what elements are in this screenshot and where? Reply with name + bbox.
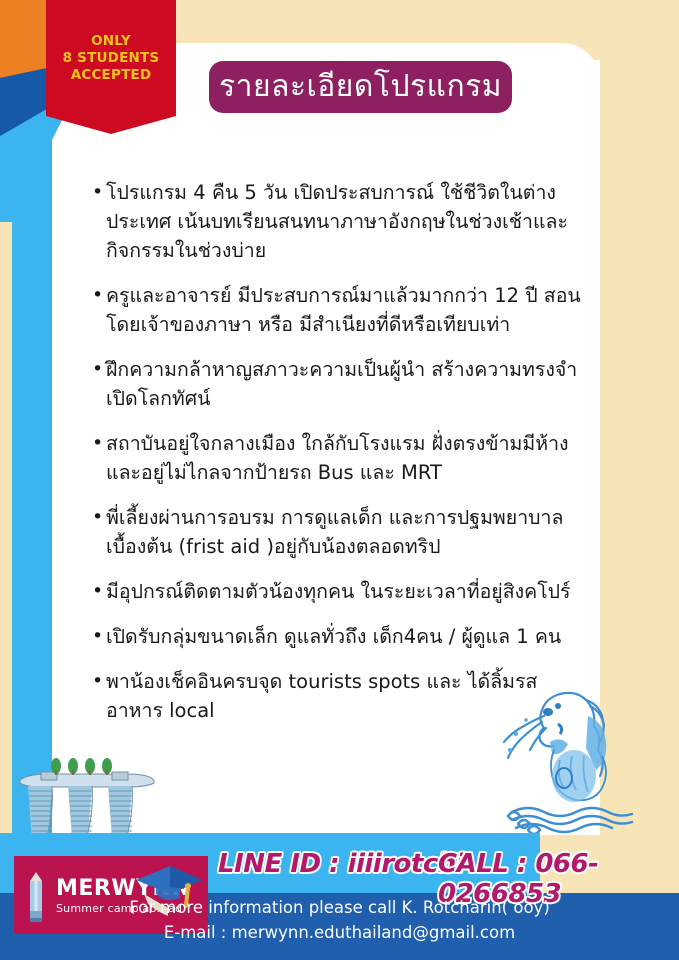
bullet-icon: •: [92, 622, 106, 651]
list-item: • ครูและอาจารย์ มีประสบการณ์มาแล้วมากกว่…: [92, 281, 582, 339]
list-item: • พี่เลี้ยงผ่านการอบรม การดูแลเด็ก และกา…: [92, 503, 582, 561]
line-id-text: LINE ID : iiiirotchi: [218, 849, 464, 879]
list-item-text: โปรแกรม 4 คืน 5 วัน เปิดประสบการณ์ ใช้ชี…: [106, 178, 582, 265]
list-item: • ฝึกความกล้าหาญสภาวะความเป็นผู้นำ สร้าง…: [92, 355, 582, 413]
bullet-icon: •: [92, 503, 106, 561]
page-title: รายละเอียดโปรแกรม: [219, 71, 502, 103]
footer-info-line: For more information please call K. Rotc…: [0, 898, 679, 917]
page-title-pill: รายละเอียดโปรแกรม: [209, 61, 512, 113]
bullet-icon: •: [92, 281, 106, 339]
list-item-text: เปิดรับกลุ่มขนาดเล็ก ดูแลทั่วถึง เด็ก4คน…: [106, 622, 582, 651]
list-item: • โปรแกรม 4 คืน 5 วัน เปิดประสบการณ์ ใช้…: [92, 178, 582, 265]
list-item: • มีอุปกรณ์ติดตามตัวน้องทุกคน ในระยะเวลา…: [92, 577, 582, 606]
bullet-icon: •: [92, 577, 106, 606]
list-item-text: ครูและอาจารย์ มีประสบการณ์มาแล้วมากกว่า …: [106, 281, 582, 339]
list-item-text: ฝึกความกล้าหาญสภาวะความเป็นผู้นำ สร้างคว…: [106, 355, 582, 413]
merlion-icon: [498, 676, 648, 841]
program-details-list: • โปรแกรม 4 คืน 5 วัน เปิดประสบการณ์ ใช้…: [92, 178, 582, 741]
list-item: • สถาบันอยู่ใจกลางเมือง ใกล้กับโรงแรม ฝั…: [92, 429, 582, 487]
bullet-icon: •: [92, 429, 106, 487]
badge-line-1: ONLY: [63, 33, 160, 50]
list-item: • เปิดรับกลุ่มขนาดเล็ก ดูแลทั่วถึง เด็ก4…: [92, 622, 582, 651]
bullet-icon: •: [92, 667, 106, 725]
list-item-text: พี่เลี้ยงผ่านการอบรม การดูแลเด็ก และการป…: [106, 503, 582, 561]
list-item-text: มีอุปกรณ์ติดตามตัวน้องทุกคน ในระยะเวลาที…: [106, 577, 582, 606]
footer-email-line: E-mail : merwynn.eduthailand@gmail.com: [0, 923, 679, 942]
marina-bay-sands-icon: [8, 752, 158, 842]
bullet-icon: •: [92, 178, 106, 265]
poster-root: ONLY 8 STUDENTS ACCEPTED รายละเอียดโปรแก…: [0, 0, 679, 960]
list-item-text: สถาบันอยู่ใจกลางเมือง ใกล้กับโรงแรม ฝั่ง…: [106, 429, 582, 487]
badge-text: ONLY 8 STUDENTS ACCEPTED: [63, 33, 160, 96]
badge-line-3: ACCEPTED: [63, 67, 160, 84]
badge-line-2: 8 STUDENTS: [63, 50, 160, 67]
students-limit-badge: ONLY 8 STUDENTS ACCEPTED: [46, 0, 176, 134]
bullet-icon: •: [92, 355, 106, 413]
